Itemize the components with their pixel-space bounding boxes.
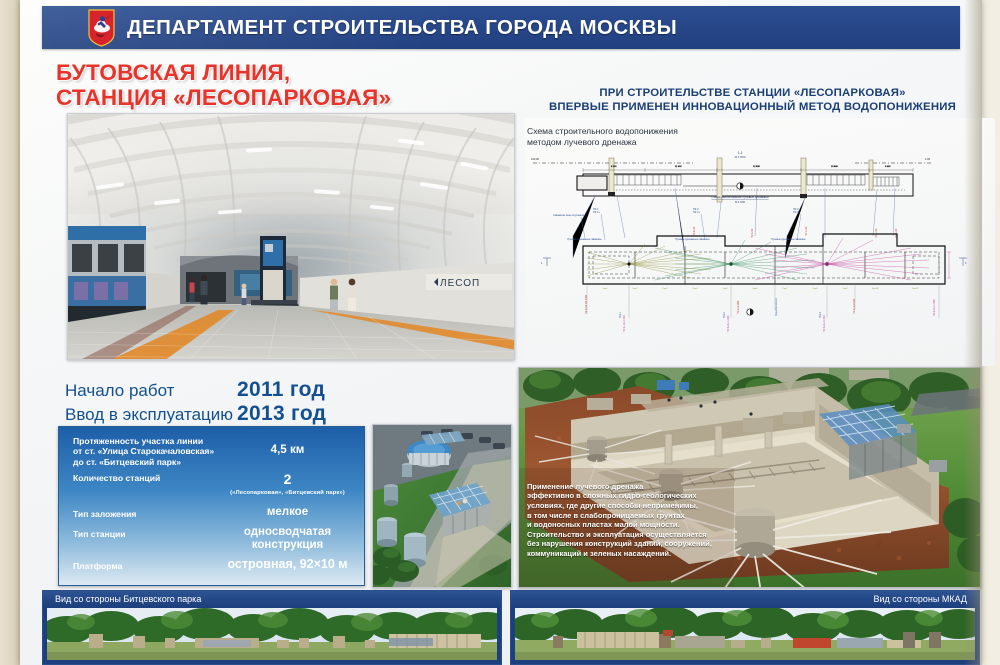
svg-text:1: 1 (541, 261, 543, 265)
date-value-start: 2011 год (237, 378, 325, 402)
moscow-coat-of-arms-icon (88, 9, 115, 47)
specifications-table: Протяженность участка линии от ст. «Улиц… (58, 426, 365, 586)
panorama-bitsevsky-park: Вид со стороны Битцевского парка (42, 590, 502, 665)
panorama-right-image (515, 608, 975, 660)
svg-text:Скв.1: Скв.1 (602, 288, 608, 290)
cutaway-3d-render: Применение лучевого дренажа эффективно в… (518, 367, 981, 588)
department-header-banner: ДЕПАРТАМЕНТ СТРОИТЕЛЬСТВА ГОРОДА МОСКВЫ (42, 6, 960, 49)
svg-text:Скв.7: Скв.7 (782, 288, 788, 290)
svg-text:Скв.5: Скв.5 (722, 288, 728, 290)
radial-drainage-scheme-drawing: 1-1 М 1:500 163.00 1.00 (525, 118, 995, 366)
svg-text:ПК 0+0+8 400: ПК 0+0+8 400 (853, 298, 856, 314)
svg-text:Лучевые дренажные скважины: Лучевые дренажные скважины (675, 238, 710, 241)
svg-text:8 200: 8 200 (611, 166, 617, 168)
svg-text:Скв.10: Скв.10 (872, 288, 879, 290)
date-value-commissioning: 2013 год (237, 402, 326, 426)
spec-label-type: Тип станции (73, 526, 223, 539)
svg-text:11 400: 11 400 (675, 166, 682, 168)
table-row: Тип станции односводчатая конструкция (73, 526, 352, 552)
svg-text:ПК 0+8+12 000: ПК 0+8+12 000 (823, 315, 826, 332)
svg-text:ПК 0+10+4 200: ПК 0+10+4 200 (623, 315, 626, 332)
spec-value-stations-number: 2 (284, 471, 292, 487)
spec-label-platform: Платформа (73, 558, 223, 571)
panorama-right-caption: Вид со стороны МКАД (511, 591, 979, 607)
station-interior-photo: ЛЕСОП (67, 113, 515, 360)
svg-text:Скв.8: Скв.8 (812, 288, 818, 290)
svg-text:12 600: 12 600 (753, 166, 760, 168)
svg-text:ПК 0+8+11 600: ПК 0+8+11 600 (727, 315, 730, 332)
svg-text:РЩ 1: РЩ 1 (619, 312, 622, 318)
render-overlay-text: Применение лучевого дренажа эффективно в… (527, 482, 717, 559)
svg-text:ПК 1+00: ПК 1+00 (805, 226, 808, 236)
svg-text:Скв.9: Скв.9 (842, 288, 848, 290)
spec-label-stations: Количество станций (73, 473, 223, 483)
table-row: Протяженность участка линии от ст. «Улиц… (73, 436, 352, 467)
spec-value-type: односводчатая конструкция (223, 526, 352, 552)
page-title-line2: СТАНЦИЯ «ЛЕСОПАРКОВАЯ» (56, 85, 496, 110)
svg-text:Скв.6: Скв.6 (752, 288, 758, 290)
svg-text:ПК 2+: ПК 2+ (693, 210, 701, 214)
svg-text:ПК 1+50: ПК 1+50 (875, 228, 878, 238)
spec-label-depth: Тип заложения (73, 506, 223, 519)
svg-text:М 1:500: М 1:500 (735, 155, 746, 159)
table-row: Платформа островная, 92×10 м (73, 558, 352, 571)
spec-value-stations: 2 («Лесопарковая», «Битцевский парк») (223, 473, 352, 500)
panorama-left-caption: Вид со стороны Битцевского парка (43, 591, 501, 607)
svg-text:Скв.4: Скв.4 (692, 288, 698, 290)
drawing-caption-line2: методом лучевого дренажа (527, 137, 787, 148)
station-entrance-aerial-render (372, 424, 512, 588)
table-row: Тип заложения мелкое (73, 506, 352, 519)
svg-text:Лучевые дренажные скважины: Лучевые дренажные скважины (567, 238, 602, 241)
svg-text:ПК 0+00 ИЛ 4000: ПК 0+00 ИЛ 4000 (585, 294, 588, 314)
date-label-start: Начало работ (65, 381, 237, 401)
svg-text:Скв.11: Скв.11 (912, 288, 919, 290)
spec-value-platform: островная, 92×10 м (223, 558, 352, 571)
svg-text:ПК 0+50: ПК 0+50 (751, 228, 754, 238)
svg-text:ПК 0+00: ПК 0+00 (693, 226, 696, 236)
station-wall-sign: ЛЕСОП (440, 278, 480, 289)
svg-text:РЩ 3: РЩ 3 (819, 312, 822, 318)
svg-text:Скв.3: Скв.3 (662, 288, 668, 290)
svg-text:ПК 0+8+11 500: ПК 0+8+11 500 (933, 299, 936, 316)
svg-text:163.00: 163.00 (531, 157, 539, 161)
spec-value-depth: мелкое (223, 506, 352, 519)
poster-right-shadow (964, 0, 982, 665)
panorama-left-image (47, 608, 497, 660)
svg-text:Водопонижение: Водопонижение (775, 298, 778, 316)
svg-text:Скв.2: Скв.2 (632, 288, 638, 290)
svg-text:10 800: 10 800 (831, 166, 838, 168)
svg-text:Скважина зоны осушения: Скважина зоны осушения (553, 213, 585, 217)
right-section-heading: ПРИ СТРОИТЕЛЬСТВЕ СТАНЦИИ «ЛЕСОПАРКОВАЯ»… (525, 86, 980, 114)
spec-label-length: Протяженность участка линии от ст. «Улиц… (73, 436, 223, 467)
page-title: БУТОВСКАЯ ЛИНИЯ, СТАНЦИЯ «ЛЕСОПАРКОВАЯ» (56, 60, 496, 110)
svg-text:6 400: 6 400 (885, 166, 891, 168)
drawing-caption: Схема строительного водопонижения методо… (527, 126, 787, 148)
svg-text:РЩ 2: РЩ 2 (723, 312, 726, 318)
svg-text:ПК 0+8+800: ПК 0+8+800 (737, 300, 740, 314)
poster: ДЕПАРТАМЕНТ СТРОИТЕЛЬСТВА ГОРОДА МОСКВЫ … (20, 0, 982, 665)
dates-block: Начало работ 2011 год Ввод в эксплуатаци… (65, 378, 385, 426)
date-row-start: Начало работ 2011 год (65, 378, 385, 402)
panorama-mkad: Вид со стороны МКАД (510, 590, 980, 665)
right-heading-line2: ВПЕРВЫЕ ПРИМЕНЕН ИННОВАЦИОННЫЙ МЕТОД ВОД… (525, 100, 980, 114)
spec-value-stations-note: («Лесопарковая», «Битцевский парк») (223, 487, 352, 500)
date-label-commissioning: Ввод в эксплуатацию (65, 405, 237, 425)
department-title: ДЕПАРТАМЕНТ СТРОИТЕЛЬСТВА ГОРОДА МОСКВЫ (127, 16, 677, 40)
page-title-line1: БУТОВСКАЯ ЛИНИЯ, (56, 60, 496, 85)
svg-text:ПК 3+: ПК 3+ (793, 210, 801, 214)
drawing-caption-line1: Схема строительного водопонижения (527, 126, 787, 137)
right-heading-line1: ПРИ СТРОИТЕЛЬСТВЕ СТАНЦИИ «ЛЕСОПАРКОВАЯ» (525, 86, 980, 100)
svg-text:1.00: 1.00 (925, 157, 931, 161)
svg-text:ПК 1+: ПК 1+ (593, 210, 601, 214)
spec-value-length: 4,5 км (223, 436, 352, 456)
svg-text:Лучевые дренажные скважины: Лучевые дренажные скважины (771, 238, 806, 241)
date-row-commissioning: Ввод в эксплуатацию 2013 год (65, 402, 385, 426)
table-row: Количество станций 2 («Лесопарковая», «Б… (73, 473, 352, 500)
svg-text:М 1:500: М 1:500 (735, 200, 746, 204)
svg-text:Схема расположения лучевых дре: Схема расположения лучевых дренажей (711, 195, 768, 199)
